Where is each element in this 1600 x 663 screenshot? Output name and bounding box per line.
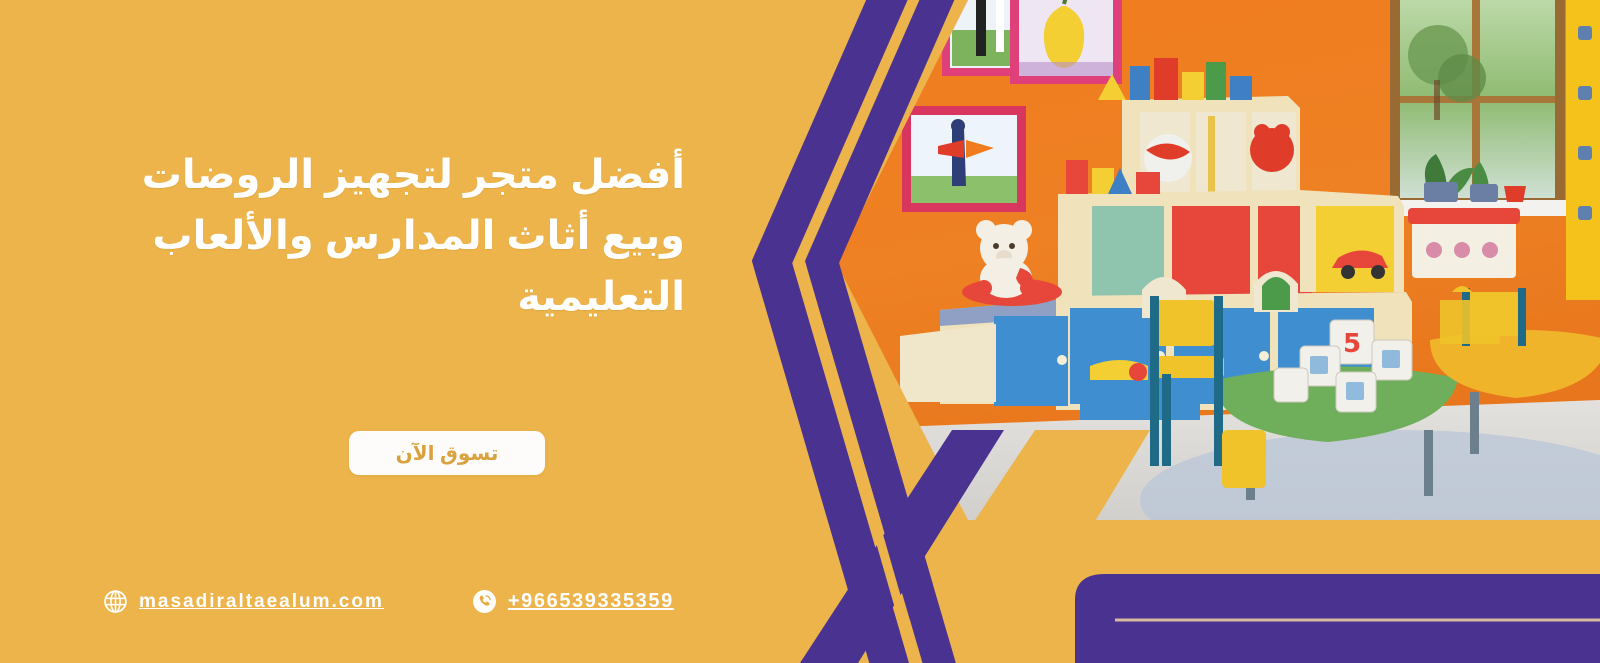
page-title: أفضل متجر لتجهيز الروضات وبيع أثاث المدا… [65, 145, 685, 327]
phone-circle-icon [472, 589, 497, 614]
phone-text: +966539335359 [508, 591, 674, 611]
phone-link[interactable]: +966539335359 [472, 589, 674, 614]
classroom-photo: 5 [820, 0, 1600, 570]
shelf-unit [900, 58, 1412, 420]
headline-line-3: التعليمية [65, 267, 685, 328]
chevron-lower-legs [772, 262, 950, 663]
teddy-bear [962, 220, 1062, 306]
wall-pictures [902, 0, 1122, 212]
shop-now-button[interactable]: تسوق الآن [349, 431, 545, 475]
table-and-chairs [1150, 288, 1600, 500]
headline-line-1: أفضل متجر لتجهيز الروضات [65, 145, 685, 206]
headline-line-2: وبيع أثاث المدارس والألعاب [65, 206, 685, 267]
svg-text:5: 5 [1343, 329, 1361, 359]
banner-content: أفضل متجر لتجهيز الروضات وبيع أثاث المدا… [0, 0, 760, 663]
chevron-accent [772, 0, 950, 663]
alphabet-blocks: 5 [1274, 320, 1412, 412]
promo-banner: 5 [0, 0, 1600, 663]
website-link[interactable]: masadiraltaealum.com [103, 589, 384, 614]
bottom-bands [800, 430, 1600, 663]
globe-icon [103, 589, 128, 614]
contact-strip: masadiraltaealum.com +966539335359 [0, 578, 760, 624]
website-text: masadiraltaealum.com [139, 592, 384, 611]
